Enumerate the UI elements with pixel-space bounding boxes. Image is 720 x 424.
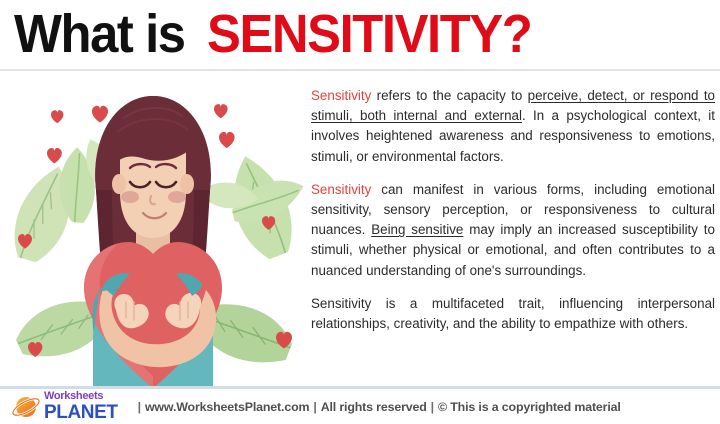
footer-rights: All rights reserved xyxy=(321,400,427,414)
emphasized-phrase: Being sensitive xyxy=(371,222,463,237)
footer-credits: |www.WorksheetsPlanet.com|All rights res… xyxy=(134,400,621,414)
keyword-sensitivity: Sensitivity xyxy=(311,182,371,197)
footer-copyright: © This is a copyrighted material xyxy=(438,400,621,414)
woman-figure xyxy=(84,96,222,388)
paragraph-3: Sensitivity is a multifaceted trait, inf… xyxy=(311,294,715,334)
paragraph-2: Sensitivity can manifest in various form… xyxy=(311,180,715,281)
definition-article: Sensitivity refers to the capacity to pe… xyxy=(311,86,715,386)
title-red-part: SENSITIVITY? xyxy=(207,7,531,61)
footer-sep-1: | xyxy=(138,400,141,414)
footer-bar: Worksheets PLANET |www.WorksheetsPlanet.… xyxy=(0,389,720,424)
worksheets-planet-logo[interactable]: Worksheets PLANET xyxy=(12,391,118,422)
logo-bottom-word: PLANET xyxy=(44,403,118,422)
keyword-sensitivity: Sensitivity xyxy=(311,88,371,103)
footer-sep-2: | xyxy=(313,400,316,414)
infographic-page: What is SENSITIVITY? xyxy=(0,0,720,424)
logo-top-word: Worksheets xyxy=(44,391,118,402)
planet-icon xyxy=(12,394,42,420)
footer-website[interactable]: www.WorksheetsPlanet.com xyxy=(145,400,309,414)
footer-sep-3: | xyxy=(431,400,434,414)
page-title: What is SENSITIVITY? xyxy=(0,0,720,68)
body-text: Sensitivity is a multifaceted trait, inf… xyxy=(311,296,715,331)
paragraph-1: Sensitivity refers to the capacity to pe… xyxy=(311,86,715,167)
woman-hugging-heart-illustration xyxy=(0,72,306,388)
body-text: refers to the capacity to xyxy=(371,88,527,103)
title-black-part: What is xyxy=(14,7,185,61)
title-divider xyxy=(0,69,720,71)
